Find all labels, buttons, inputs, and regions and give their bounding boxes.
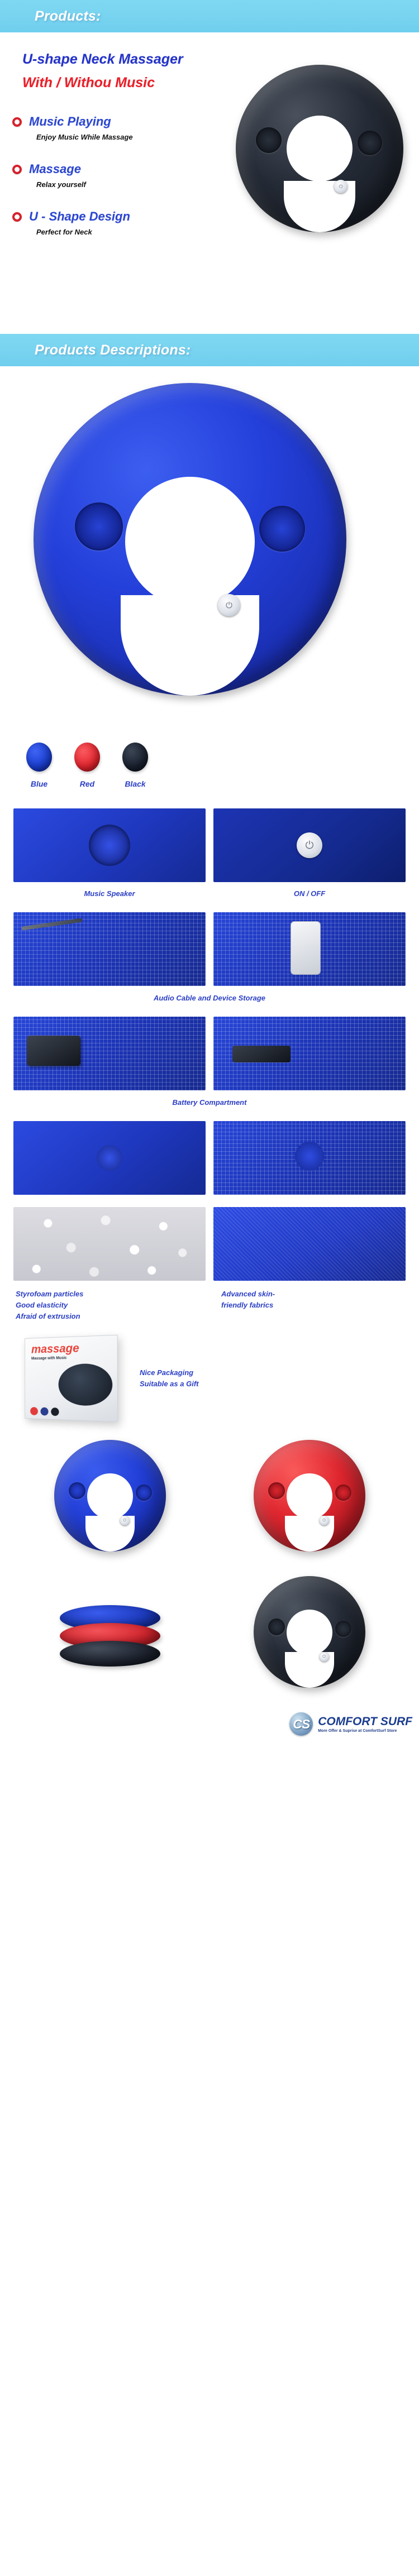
caption-packaging-line2: Suitable as a Gift [140,1378,198,1390]
styrofoam-photo [13,1207,206,1281]
fabric-photo [213,1207,406,1281]
products-banner: Products: [0,0,419,32]
hero-product-image: ⏻ [236,65,403,232]
caption-fabric-line1: Advanced skin- [221,1289,406,1300]
caption-audio-cable: Audio Cable and Device Storage [0,994,419,1002]
power-glyph: ⏻ [123,1519,126,1522]
final-photo-blue: ⏻ [15,1437,205,1554]
swatch-label: Red [73,779,102,788]
power-button-icon: ⏻ [334,180,347,193]
speaker-photo [13,808,206,882]
detail-cell-cable [13,912,206,986]
stacked-color-row: ⏻ [0,1568,419,1696]
detail-row-speaker: Music Speaker ⏻ ON / OFF [0,808,419,898]
power-glyph: ⏻ [322,1519,326,1522]
speaker-icon [256,127,282,153]
detail-cell-onoff: ⏻ ON / OFF [213,808,406,898]
brand-name: COMFORT SURF [318,1716,412,1727]
detail-row-material: Styrofoam particles Good elasticity Afra… [0,1207,419,1322]
feature-title: U - Shape Design [29,209,130,224]
button-photo-a [13,1121,206,1195]
onoff-photo: ⏻ [213,808,406,882]
caption-fabric-line2: friendly fabrics [221,1300,406,1311]
stacked-pillows-photo [15,1568,205,1696]
chip-black [51,1408,59,1416]
main-product-image: ⏻ [0,366,419,729]
caption-music-speaker: Music Speaker [13,889,206,898]
package-color-chips [30,1407,59,1416]
caption-styrofoam: Styrofoam particles Good elasticity Afra… [13,1289,206,1322]
feature-title: Music Playing [29,114,111,129]
color-swatch-list: Blue Red Black [0,729,419,788]
caption-fabric: Advanced skin- friendly fabrics [213,1289,406,1311]
caption-styrofoam-line1: Styrofoam particles [16,1289,206,1300]
color-swatch-red[interactable]: Red [73,743,102,788]
final-photo-black: ⏻ [214,1568,404,1696]
ring-bullet-icon [12,165,22,174]
battery-photo-a [13,1017,206,1090]
stack-pad-black [60,1641,160,1667]
detail-row-buttons [0,1121,419,1195]
caption-packaging-line1: Nice Packaging [140,1367,198,1378]
ring-bullet-icon [12,117,22,127]
detail-cell-battery-a [13,1017,206,1090]
detail-row-audio [0,912,419,986]
detail-cell-battery-b [213,1017,406,1090]
detail-cell-button-a [13,1121,206,1195]
power-button-icon: ⏻ [218,594,240,616]
ring-bullet-icon [12,212,22,222]
final-color-row: ⏻ ⏻ [0,1437,419,1554]
package-subtitle-label: Massage with Music [31,1357,66,1361]
product-listing-page: Products: U-shape Neck Massager With / W… [0,0,419,1740]
caption-battery: Battery Compartment [0,1098,419,1107]
power-glyph: ⏻ [339,184,342,189]
package-product-photo [59,1363,113,1406]
speaker-icon [75,502,123,550]
feature-title: Massage [29,162,81,176]
detail-cell-styrofoam: Styrofoam particles Good elasticity Afra… [13,1207,206,1322]
swatch-label: Blue [25,779,54,788]
swatch-dot [26,743,52,772]
chip-blue [41,1407,49,1416]
packaging-caption: Nice Packaging Suitable as a Gift [135,1367,406,1390]
logo-text: CS [293,1717,310,1732]
final-photo-red: ⏻ [214,1437,404,1554]
brand-tagline: More Offer & Suprise at ComfortSurf Stor… [318,1729,412,1733]
swatch-dot [122,743,148,772]
color-swatch-blue[interactable]: Blue [25,743,54,788]
products-banner-label: Products: [35,8,101,25]
chip-red [30,1407,38,1416]
power-glyph: ⏻ [322,1655,326,1659]
device-storage-photo [213,912,406,986]
caption-styrofoam-line3: Afraid of extrusion [16,1311,206,1322]
audio-cable-photo [13,912,206,986]
comfort-surf-logo-icon: CS [289,1712,313,1736]
swatch-label: Black [121,779,150,788]
color-swatch-black[interactable]: Black [121,743,150,788]
descriptions-banner-label: Products Descriptions: [35,342,191,358]
detail-cell-speaker: Music Speaker [13,808,206,898]
detail-row-battery [0,1017,419,1090]
speaker-icon [358,131,382,155]
detail-cell-fabric: Advanced skin- friendly fabrics [213,1207,406,1322]
detail-cell-storage [213,912,406,986]
caption-styrofoam-line2: Good elasticity [16,1300,206,1311]
caption-on-off: ON / OFF [213,889,406,898]
packaging-box-image: massage Massage with Music [25,1335,118,1423]
footer-branding: CS COMFORT SURF More Offer & Suprise at … [0,1708,419,1740]
packaging-row: massage Massage with Music Nice Packagin… [0,1337,419,1420]
package-brand-label: massage [31,1342,79,1357]
battery-photo-b [213,1017,406,1090]
speaker-icon [259,506,305,552]
detail-cell-button-b [213,1121,406,1195]
power-glyph: ⏻ [226,601,232,610]
power-glyph: ⏻ [305,840,313,851]
button-photo-b [213,1121,406,1195]
descriptions-banner: Products Descriptions: [0,334,419,366]
hero-section: U-shape Neck Massager With / Withou Musi… [0,32,419,334]
swatch-dot [74,743,100,772]
